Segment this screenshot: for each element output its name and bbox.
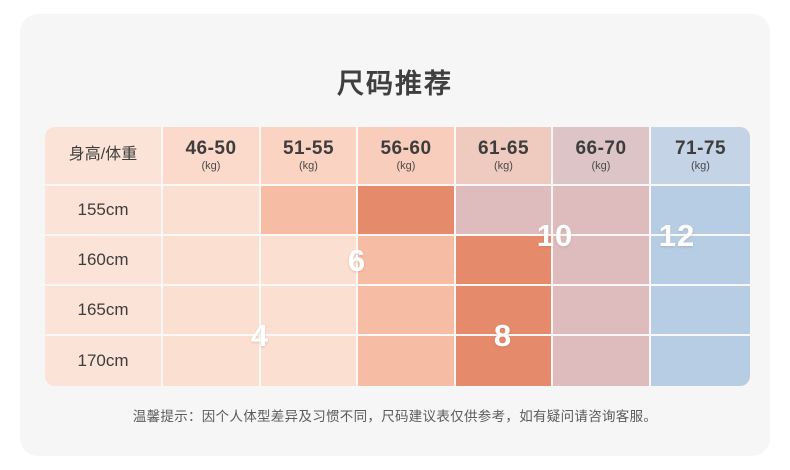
cell-160cm-56-60	[358, 236, 456, 286]
cell-160cm-66-70	[553, 236, 651, 286]
weight-unit: (kg)	[299, 160, 318, 172]
disclaimer-note: 温馨提示：因个人体型差异及习惯不同，尺码建议表仅供参考，如有疑问请咨询客服。	[20, 405, 770, 425]
cell-155cm-66-70	[553, 186, 651, 236]
column-header-51-55: 51-55 (kg)	[261, 127, 358, 186]
cell-155cm-56-60	[358, 186, 456, 236]
weight-range: 71-75	[675, 139, 726, 159]
weight-unit: (kg)	[592, 160, 611, 172]
column-header-61-65: 61-65 (kg)	[456, 127, 553, 186]
table-corner-header: 身高/体重	[45, 127, 163, 186]
cell-170cm-71-75	[651, 336, 750, 386]
height-value: 155cm	[77, 200, 128, 220]
cell-165cm-61-65	[456, 286, 553, 336]
size-table: 身高/体重 46-50 (kg) 51-55 (kg) 56-60 (kg) 6…	[45, 127, 750, 386]
cell-160cm-51-55	[261, 236, 358, 286]
cell-155cm-46-50	[163, 186, 261, 236]
cell-160cm-61-65	[456, 236, 553, 286]
corner-label: 身高/体重	[69, 147, 137, 164]
row-header-160cm: 160cm	[45, 236, 163, 286]
weight-range: 56-60	[380, 139, 431, 159]
weight-unit: (kg)	[691, 160, 710, 172]
column-header-71-75: 71-75 (kg)	[651, 127, 750, 186]
cell-160cm-46-50	[163, 236, 261, 286]
weight-range: 66-70	[575, 139, 626, 159]
weight-range: 51-55	[283, 139, 334, 159]
weight-range: 46-50	[185, 139, 236, 159]
cell-165cm-71-75	[651, 286, 750, 336]
cell-165cm-56-60	[358, 286, 456, 336]
cell-165cm-46-50	[163, 286, 261, 336]
height-value: 170cm	[77, 351, 128, 371]
cell-170cm-46-50	[163, 336, 261, 386]
weight-range: 61-65	[478, 139, 529, 159]
cell-165cm-51-55	[261, 286, 358, 336]
row-header-170cm: 170cm	[45, 336, 163, 386]
page-title: 尺码推荐	[20, 62, 770, 101]
cell-155cm-61-65	[456, 186, 553, 236]
cell-170cm-61-65	[456, 336, 553, 386]
row-header-155cm: 155cm	[45, 186, 163, 236]
cell-170cm-51-55	[261, 336, 358, 386]
weight-unit: (kg)	[494, 160, 513, 172]
cell-155cm-71-75	[651, 186, 750, 236]
column-header-66-70: 66-70 (kg)	[553, 127, 651, 186]
height-value: 160cm	[77, 250, 128, 270]
cell-155cm-51-55	[261, 186, 358, 236]
cell-165cm-66-70	[553, 286, 651, 336]
size-chart-card: 尺码推荐 身高/体重 46-50 (kg) 51-55 (kg) 56-60 (…	[20, 14, 770, 456]
column-header-46-50: 46-50 (kg)	[163, 127, 261, 186]
weight-unit: (kg)	[397, 160, 416, 172]
column-header-56-60: 56-60 (kg)	[358, 127, 456, 186]
weight-unit: (kg)	[202, 160, 221, 172]
cell-160cm-71-75	[651, 236, 750, 286]
height-value: 165cm	[77, 300, 128, 320]
cell-170cm-56-60	[358, 336, 456, 386]
cell-170cm-66-70	[553, 336, 651, 386]
row-header-165cm: 165cm	[45, 286, 163, 336]
